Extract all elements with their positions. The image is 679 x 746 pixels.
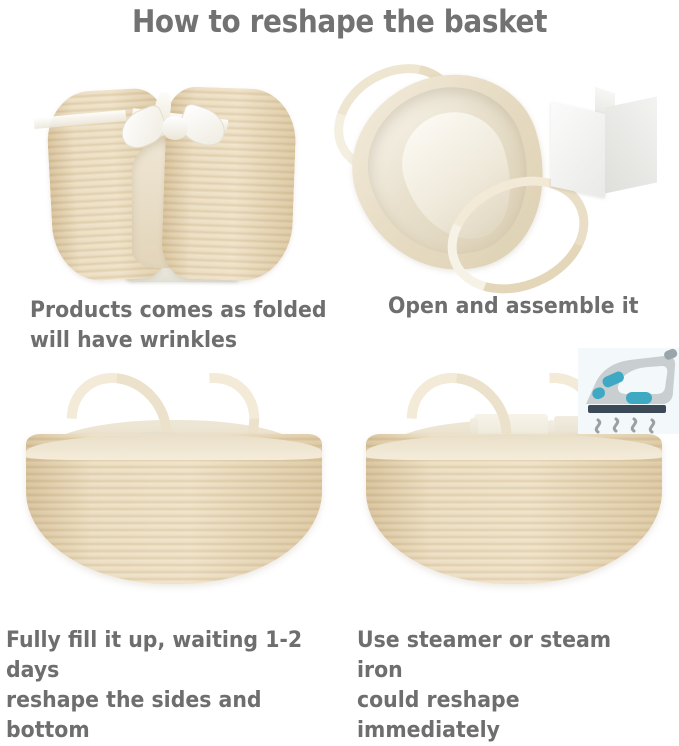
step-3-caption: Fully fill it up, waiting 1-2 days resha… — [6, 626, 332, 746]
ribbon-knot — [162, 116, 188, 140]
step-2-caption: Open and assemble it — [388, 292, 667, 322]
divider-panel-left — [551, 102, 605, 197]
step-3-image — [12, 352, 342, 620]
step-4-caption: Use steamer or steam iron could reshape … — [357, 626, 664, 746]
step-1-image — [28, 62, 328, 290]
opened-basket-illustration — [325, 62, 670, 290]
step-4-image — [352, 352, 678, 620]
steam-iron-icon — [578, 348, 679, 434]
rolled-basket-illustration — [28, 62, 328, 290]
basket-rim — [26, 434, 322, 460]
infographic-page: How to reshape the basket Products comes… — [0, 0, 679, 687]
rope-basket-filled — [26, 434, 322, 584]
step-2-image — [325, 62, 670, 290]
basket-rim — [366, 434, 662, 460]
divider-panel-right — [605, 96, 657, 193]
step-1-caption: Products comes as folded will have wrink… — [30, 296, 328, 356]
rope-basket-empty — [366, 434, 662, 584]
white-ribbon-bow — [118, 92, 234, 162]
divider-insert — [551, 92, 659, 198]
page-title: How to reshape the basket — [34, 4, 645, 40]
